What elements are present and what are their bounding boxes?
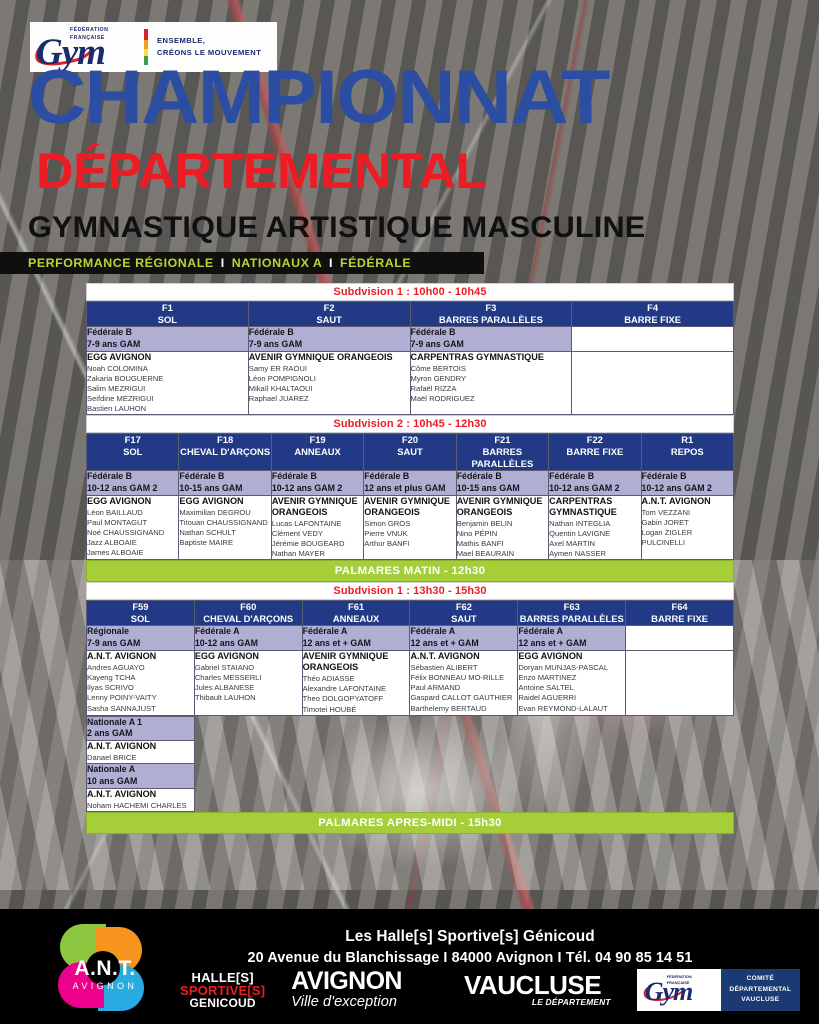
athlete-name: Lucas LAFONTAINE xyxy=(272,519,363,529)
halles-line3: GENICOUD xyxy=(180,997,265,1009)
venue-info: Les Halle[s] Sportive[s] Génicoud 20 Ave… xyxy=(190,926,750,969)
club-cell: A.N.T. AVIGNONTom VEZZANIGabin JORETLoga… xyxy=(641,495,733,560)
club-name: A.N.T. AVIGNON xyxy=(642,496,733,507)
category-cell: Fédérale B12 ans et plus GAM xyxy=(364,471,456,496)
category-level: Fédérale A xyxy=(518,626,563,636)
poster-root: FÉDÉRATION FRANÇAISE Gym ENSEMBLE, CRÉON… xyxy=(0,0,819,1024)
athlete-name: Raidel AGUERRI xyxy=(518,693,625,703)
apparatus-header-F18[interactable]: F18CHEVAL D'ARÇONS xyxy=(179,434,271,471)
category-age: 7-9 ans GAM xyxy=(87,339,248,351)
club-name: CARPENTRAS GYMNASTIQUE xyxy=(411,352,572,363)
category-level: Fédérale A xyxy=(303,626,348,636)
extra-category-cell: Nationale A10 ans GAM xyxy=(87,764,195,789)
athlete-name: Myron GENDRY xyxy=(411,374,572,384)
athlete-name: Benjamin BELIN xyxy=(457,519,548,529)
club-cell xyxy=(626,651,734,716)
apparatus-name: BARRE FIXE xyxy=(549,446,640,458)
category-age: 10-15 ans GAM xyxy=(179,483,270,495)
athlete-name: Charles MESSERLI xyxy=(195,673,302,683)
club-cell: EGG AVIGNONNoah COLOMINAZakaria BOUGUERN… xyxy=(87,351,249,415)
athlete-name: Timotei HOUBÉ xyxy=(303,705,410,715)
palmares-afternoon-bar: PALMARES APRES-MIDI - 15h30 xyxy=(86,812,734,834)
athlete-name: Barthelemy BERTAUD xyxy=(410,704,517,714)
extra-category-row: Nationale A 12 ans GAM xyxy=(87,716,734,741)
title-discipline: GYMNASTIQUE ARTISTIQUE MASCULINE xyxy=(28,213,645,243)
extra-category-table: Nationale A 12 ans GAMA.N.T. AVIGNONDana… xyxy=(86,716,734,813)
category-level: Fédérale B xyxy=(249,327,294,337)
club-name: AVENIR GYMNIQUE ORANGEOIS xyxy=(303,651,410,673)
apparatus-header-F2[interactable]: F2SAUT xyxy=(248,302,410,327)
category-separator-0: I xyxy=(218,256,228,270)
athlete-name: Axel MARTIN xyxy=(549,539,640,549)
title-championnat: CHAMPIONNAT xyxy=(28,63,609,133)
category-level: Fédérale B xyxy=(87,327,132,337)
apparatus-header-R1[interactable]: R1REPOS xyxy=(641,434,733,471)
apparatus-header-F21[interactable]: F21BARRES PARALLÈLES xyxy=(456,434,548,471)
athlete-name: Sébastien ALIBERT xyxy=(410,663,517,673)
club-cell: AVENIR GYMNIQUE ORANGEOISBenjamin BELINN… xyxy=(456,495,548,560)
palmares-afternoon-text: PALMARES APRES-MIDI - 15h30 xyxy=(318,817,501,829)
athlete-name: Andres AGUAYO xyxy=(87,663,194,673)
category-0: PERFORMANCE RÉGIONALE xyxy=(28,256,214,270)
subdivision-title-text: Subdvision 1 : 10h00 - 10h45 xyxy=(333,286,486,298)
sponsor-comite-departemental-vaucluse: FÉDÉRATION FRANÇAISE Gym COMITÉ DÉPARTEM… xyxy=(637,969,800,1011)
apparatus-name: BARRE FIXE xyxy=(626,613,733,625)
athlete-name: Mikaïl KHALTAOUI xyxy=(249,384,410,394)
club-name: AVENIR GYMNIQUE ORANGEOIS xyxy=(457,496,548,518)
athlete-name: Raphael JUAREZ xyxy=(249,394,410,404)
category-cell: Fédérale A12 ans et + GAM xyxy=(410,626,518,651)
category-level: Fédérale B xyxy=(642,471,687,481)
halles-line1: HALLE[S] xyxy=(180,971,265,984)
athlete-name: Mathis BANFI xyxy=(457,539,548,549)
club-cell: A.N.T. AVIGNONSébastien ALIBERTFélix BON… xyxy=(410,651,518,716)
category-row: Fédérale B7-9 ans GAMFédérale B7-9 ans G… xyxy=(87,327,734,352)
club-name: EGG AVIGNON xyxy=(87,496,178,507)
athlete-name: Aymen NASSER xyxy=(549,549,640,559)
athlete-name: Noé CHAUSSIGNAND xyxy=(87,528,178,538)
athlete-name: Léon POMPIGNOLI xyxy=(249,374,410,384)
venue-name: Les Halle[s] Sportive[s] Génicoud xyxy=(190,926,750,948)
category-age: 7-9 ans GAM xyxy=(87,638,194,650)
apparatus-name: SAUT xyxy=(410,613,517,625)
club-cell: CARPENTRAS GYMNASTIQUENathan INTEGLIAQue… xyxy=(549,495,641,560)
category-age: 10-12 ans GAM 2 xyxy=(549,483,640,495)
category-bar-text: PERFORMANCE RÉGIONALE I NATIONAUX A I FÉ… xyxy=(28,256,411,270)
halles-line2: SPORTIVE[S] xyxy=(180,984,265,997)
apparatus-code: F64 xyxy=(626,601,733,613)
category-cell: Régionale7-9 ans GAM xyxy=(87,626,195,651)
apparatus-code: F59 xyxy=(87,601,194,613)
athlete-name: Paul ARMAND xyxy=(410,683,517,693)
athlete-name: Quentin LAVIGNE xyxy=(549,529,640,539)
category-level: Fédérale B xyxy=(364,471,409,481)
club-cell: A.N.T. AVIGNONDanael BRICE xyxy=(87,741,195,764)
category-age: 12 ans et + GAM xyxy=(518,638,625,650)
schedule-container: Subdvision 1 : 10h00 - 10h45F1SOLF2SAUTF… xyxy=(86,283,734,834)
athlete-name: Félix BONNEAU MO-RILLE xyxy=(410,673,517,683)
athlete-name: Nathan INTEGLIA xyxy=(549,519,640,529)
club-row: EGG AVIGNONLéon BAILLAUDPaul MONTAGUTNoé… xyxy=(87,495,734,560)
apparatus-header-F61[interactable]: F61ANNEAUX xyxy=(302,601,410,626)
category-age: 7-9 ans GAM xyxy=(411,339,572,351)
athlete-name: Léon BAILLAUD xyxy=(87,508,178,518)
athlete-name: Simon GROS xyxy=(364,519,455,529)
apparatus-name: REPOS xyxy=(642,446,733,458)
athlete-name: Theo DOLGOPYATOFF xyxy=(303,694,410,704)
athlete-name: Zakaria BOUGUERNE xyxy=(87,374,248,384)
athlete-name: Jérémie BOUGEARD xyxy=(272,539,363,549)
athlete-name: Noham HACHEMI CHARLES xyxy=(87,801,194,811)
club-cell: A.N.T. AVIGNONAndres AGUAYOKayeng TCHAIl… xyxy=(87,651,195,716)
athlete-name: Kayeng TCHA xyxy=(87,673,194,683)
club-cell: EGG AVIGNONDoryan MUNJAS-PASCALEnzo MART… xyxy=(518,651,626,716)
club-cell: EGG AVIGNONMaximilian DEGROUTitouan CHAU… xyxy=(179,495,271,560)
apparatus-code: F22 xyxy=(549,434,640,446)
apparatus-header-F4[interactable]: F4BARRE FIXE xyxy=(572,302,734,327)
apparatus-name: SOL xyxy=(87,613,194,625)
apparatus-code: F60 xyxy=(195,601,302,613)
category-age: 10-12 ans GAM 2 xyxy=(272,483,363,495)
category-level: Fédérale B xyxy=(457,471,502,481)
apparatus-name: BARRES PARALLÈLES xyxy=(457,446,548,470)
category-1: NATIONAUX A xyxy=(232,256,322,270)
category-age: 10-12 ans GAM 2 xyxy=(642,483,733,495)
palmares-morning-bar: PALMARES MATIN - 12h30 xyxy=(86,560,734,582)
category-level: Fédérale B xyxy=(179,471,224,481)
apparatus-code: F62 xyxy=(410,601,517,613)
extra-category-row: Nationale A10 ans GAM xyxy=(87,764,734,789)
athlete-name: Maximilian DEGROU xyxy=(179,508,270,518)
apparatus-name: SAUT xyxy=(364,446,455,458)
sponsor-avignon: AVIGNON Ville d'exception xyxy=(291,970,438,1010)
club-name: AVENIR GYMNIQUE ORANGEOIS xyxy=(364,496,455,518)
athlete-name: Danael BRICE xyxy=(87,753,194,763)
athlete-name: Antoine SALTEL xyxy=(518,683,625,693)
apparatus-header-F60[interactable]: F60CHEVAL D'ARÇONS xyxy=(194,601,302,626)
apparatus-header-row: F17SOLF18CHEVAL D'ARÇONSF19ANNEAUXF20SAU… xyxy=(87,434,734,471)
category-separator-1: I xyxy=(326,256,336,270)
cdv-line1: COMITÉ xyxy=(747,974,774,985)
athlete-name: Gabriel STAIANO xyxy=(195,663,302,673)
apparatus-code: F2 xyxy=(249,302,410,314)
extra-category-level: Nationale A 1 xyxy=(87,717,142,727)
apparatus-code: F21 xyxy=(457,434,548,446)
category-level: Fédérale A xyxy=(195,626,240,636)
category-age: 10-15 ans GAM xyxy=(457,483,548,495)
category-cell: Fédérale B7-9 ans GAM xyxy=(410,327,572,352)
athlete-name: Jules ALBANESE xyxy=(195,683,302,693)
apparatus-name: SOL xyxy=(87,314,248,326)
avignon-wordmark: AVIGNON xyxy=(291,970,438,994)
extra-category-age: 2 ans GAM xyxy=(87,728,194,740)
apparatus-header-row: F59SOLF60CHEVAL D'ARÇONSF61ANNEAUXF62SAU… xyxy=(87,601,734,626)
subdivision-title: Subdvision 1 : 10h00 - 10h45 xyxy=(86,283,734,301)
extra-spacer xyxy=(194,788,733,811)
ant-avignon-logo: A.N.T. AVIGNON xyxy=(38,921,168,1013)
athlete-name: Samy ER RAOUI xyxy=(249,364,410,374)
category-bar: PERFORMANCE RÉGIONALE I NATIONAUX A I FÉ… xyxy=(0,252,484,274)
athlete-name: Gabin JORET xyxy=(642,518,733,528)
category-cell: Fédérale B7-9 ans GAM xyxy=(87,327,249,352)
athlete-name: Maël RODRIGUEZ xyxy=(411,394,572,404)
club-cell: AVENIR GYMNIQUE ORANGEOISThéo ADIASSEAle… xyxy=(302,651,410,716)
athlete-name: Nino PÉPIN xyxy=(457,529,548,539)
subdivision-title-text: Subdvision 1 : 13h30 - 15h30 xyxy=(333,585,486,597)
apparatus-code: F1 xyxy=(87,302,248,314)
apparatus-name: BARRES PARALLÈLES xyxy=(411,314,572,326)
club-cell: EGG AVIGNONGabriel STAIANOCharles MESSER… xyxy=(194,651,302,716)
athlete-name: Logan ZIGLER PULCINELLI xyxy=(642,528,733,548)
apparatus-header-row: F1SOLF2SAUTF3BARRES PARALLÈLESF4BARRE FI… xyxy=(87,302,734,327)
athlete-name: Enzo MARTINEZ xyxy=(518,673,625,683)
category-level: Fédérale B xyxy=(87,471,132,481)
apparatus-code: F19 xyxy=(272,434,363,446)
apparatus-name: BARRES PARALLÈLES xyxy=(518,613,625,625)
extra-category-age: 10 ans GAM xyxy=(87,776,194,788)
schedule-table: F59SOLF60CHEVAL D'ARÇONSF61ANNEAUXF62SAU… xyxy=(86,600,734,715)
athlete-name: Arthur BANFI xyxy=(364,539,455,549)
club-cell: A.N.T. AVIGNONNoham HACHEMI CHARLES xyxy=(87,788,195,811)
club-cell xyxy=(572,351,734,415)
sponsor-halles-sportives-genicoud: HALLE[S] SPORTIVE[S] GENICOUD xyxy=(180,971,265,1010)
palmares-morning-text: PALMARES MATIN - 12h30 xyxy=(335,565,485,577)
category-cell xyxy=(572,327,734,352)
apparatus-name: CHEVAL D'ARÇONS xyxy=(195,613,302,625)
cdv-text-block: COMITÉ DÉPARTEMENTAL VAUCLUSE xyxy=(721,969,800,1011)
apparatus-header-F59[interactable]: F59SOL xyxy=(87,601,195,626)
sponsor-vaucluse: VAUCLUSE LE DÉPARTEMENT xyxy=(464,973,611,1008)
apparatus-header-F20[interactable]: F20SAUT xyxy=(364,434,456,471)
category-level: Fédérale B xyxy=(549,471,594,481)
apparatus-header-F3[interactable]: F3BARRES PARALLÈLES xyxy=(410,302,572,327)
apparatus-header-F1[interactable]: F1SOL xyxy=(87,302,249,327)
extra-spacer xyxy=(194,764,733,789)
apparatus-code: R1 xyxy=(642,434,733,446)
athlete-name: Baptiste MAIRE xyxy=(179,538,270,548)
apparatus-header-F19[interactable]: F19ANNEAUX xyxy=(271,434,363,471)
club-row: EGG AVIGNONNoah COLOMINAZakaria BOUGUERN… xyxy=(87,351,734,415)
club-cell: AVENIR GYMNIQUE ORANGEOISSamy ER RAOUILé… xyxy=(248,351,410,415)
category-cell xyxy=(626,626,734,651)
athlete-name: Alexandre LAFONTAINE xyxy=(303,684,410,694)
apparatus-header-F64[interactable]: F64BARRE FIXE xyxy=(626,601,734,626)
schedule-table: F1SOLF2SAUTF3BARRES PARALLÈLESF4BARRE FI… xyxy=(86,301,734,415)
club-cell: CARPENTRAS GYMNASTIQUECôme BERTOISMyron … xyxy=(410,351,572,415)
club-name: EGG AVIGNON xyxy=(179,496,270,507)
athlete-name: Paul MONTAGUT xyxy=(87,518,178,528)
ant-logo-subtext: AVIGNON xyxy=(42,981,168,991)
club-name: EGG AVIGNON xyxy=(87,352,248,363)
club-name: EGG AVIGNON xyxy=(518,651,625,662)
club-cell: AVENIR GYMNIQUE ORANGEOISSimon GROSPierr… xyxy=(364,495,456,560)
cdv-ffg-mark: FÉDÉRATION FRANÇAISE Gym xyxy=(637,969,721,1011)
category-row: Régionale7-9 ans GAMFédérale A10-12 ans … xyxy=(87,626,734,651)
apparatus-code: F20 xyxy=(364,434,455,446)
apparatus-code: F61 xyxy=(303,601,410,613)
apparatus-name: SAUT xyxy=(249,314,410,326)
extra-club-row: A.N.T. AVIGNONNoham HACHEMI CHARLES xyxy=(87,788,734,811)
athlete-name: James ALBOAIE xyxy=(87,548,178,558)
cdv-line3: VAUCLUSE xyxy=(741,995,779,1006)
category-cell: Fédérale B10-12 ans GAM 2 xyxy=(641,471,733,496)
athlete-name: Tom VEZZANI xyxy=(642,508,733,518)
athlete-name: Nathan SCHULT xyxy=(179,528,270,538)
ant-logo-text: A.N.T. xyxy=(42,957,168,981)
category-age: 10-12 ans GAM 2 xyxy=(87,483,178,495)
category-cell: Fédérale A12 ans et + GAM xyxy=(302,626,410,651)
athlete-name: Ilyas SCRIVO xyxy=(87,683,194,693)
club-name: CARPENTRAS GYMNASTIQUE xyxy=(549,496,640,518)
subdivision-title-text: Subdvision 2 : 10h45 - 12h30 xyxy=(333,418,486,430)
footer: A.N.T. AVIGNON Les Halle[s] Sportive[s] … xyxy=(0,909,819,1024)
apparatus-code: F63 xyxy=(518,601,625,613)
category-2: FÉDÉRALE xyxy=(340,256,411,270)
athlete-name: Nathan MAYER xyxy=(272,549,363,559)
athlete-name: Noah COLOMINA xyxy=(87,364,248,374)
schedule-table: F17SOLF18CHEVAL D'ARÇONSF19ANNEAUXF20SAU… xyxy=(86,433,734,560)
athlete-name: Pierre VNUK xyxy=(364,529,455,539)
vaucluse-wordmark: VAUCLUSE xyxy=(464,973,611,998)
category-age: 10-12 ans GAM xyxy=(195,638,302,650)
category-level: Fédérale B xyxy=(411,327,456,337)
category-level: Fédérale B xyxy=(272,471,317,481)
apparatus-code: F4 xyxy=(572,302,733,314)
club-name: A.N.T. AVIGNON xyxy=(87,651,194,662)
athlete-name: Rafaël RIZZA xyxy=(411,384,572,394)
category-age: 7-9 ans GAM xyxy=(249,339,410,351)
category-cell: Fédérale B10-12 ans GAM 2 xyxy=(87,471,179,496)
athlete-name: Evan REYMOND-LALAUT xyxy=(518,704,625,714)
extra-category-cell: Nationale A 12 ans GAM xyxy=(87,716,195,741)
cdv-gym-wordmark: Gym xyxy=(645,977,693,1007)
apparatus-header-F17[interactable]: F17SOL xyxy=(87,434,179,471)
category-age: 12 ans et plus GAM xyxy=(364,483,455,495)
category-cell: Fédérale B10-15 ans GAM xyxy=(456,471,548,496)
athlete-name: Doryan MUNJAS-PASCAL xyxy=(518,663,625,673)
club-name: A.N.T. AVIGNON xyxy=(410,651,517,662)
category-row: Fédérale B10-12 ans GAM 2Fédérale B10-15… xyxy=(87,471,734,496)
apparatus-name: ANNEAUX xyxy=(303,613,410,625)
club-name: EGG AVIGNON xyxy=(195,651,302,662)
club-name: A.N.T. AVIGNON xyxy=(87,741,194,752)
athlete-name: Lenny POINY-VAITY xyxy=(87,693,194,703)
category-cell: Fédérale B7-9 ans GAM xyxy=(248,327,410,352)
category-level: Fédérale A xyxy=(410,626,455,636)
athlete-name: Jazz ALBOAIE xyxy=(87,538,178,548)
athlete-name: Théo ADIASSE xyxy=(303,674,410,684)
extra-spacer xyxy=(194,741,733,764)
category-cell: Fédérale A12 ans et + GAM xyxy=(518,626,626,651)
subdivision-title: Subdvision 2 : 10h45 - 12h30 xyxy=(86,415,734,433)
category-level: Régionale xyxy=(87,626,129,636)
apparatus-header-F62[interactable]: F62SAUT xyxy=(410,601,518,626)
athlete-name: Côme BERTOIS xyxy=(411,364,572,374)
apparatus-code: F17 xyxy=(87,434,178,446)
athlete-name: Gaspard CALLOT GAUTHIER xyxy=(410,693,517,703)
extra-spacer xyxy=(194,716,733,741)
sponsor-logos: HALLE[S] SPORTIVE[S] GENICOUD AVIGNON Vi… xyxy=(180,967,800,1013)
club-name: A.N.T. AVIGNON xyxy=(87,789,194,800)
extra-category-level: Nationale A xyxy=(87,764,135,774)
athlete-name: Mael BEAURAIN xyxy=(457,549,548,559)
apparatus-name: ANNEAUX xyxy=(272,446,363,458)
club-cell: AVENIR GYMNIQUE ORANGEOISLucas LAFONTAIN… xyxy=(271,495,363,560)
cdv-line2: DÉPARTEMENTAL xyxy=(729,985,791,996)
club-cell: EGG AVIGNONLéon BAILLAUDPaul MONTAGUTNoé… xyxy=(87,495,179,560)
athlete-name: Salim MEZRIGUI xyxy=(87,384,248,394)
athlete-name: Bastien LAUHON xyxy=(87,404,248,414)
club-name: AVENIR GYMNIQUE ORANGEOIS xyxy=(272,496,363,518)
category-cell: Fédérale B10-12 ans GAM 2 xyxy=(271,471,363,496)
category-cell: Fédérale B10-15 ans GAM xyxy=(179,471,271,496)
apparatus-code: F3 xyxy=(411,302,572,314)
category-cell: Fédérale A10-12 ans GAM xyxy=(194,626,302,651)
subdivision-title: Subdvision 1 : 13h30 - 15h30 xyxy=(86,582,734,600)
category-cell: Fédérale B10-12 ans GAM 2 xyxy=(549,471,641,496)
apparatus-name: BARRE FIXE xyxy=(572,314,733,326)
athlete-name: Thibault LAUHON xyxy=(195,693,302,703)
extra-club-row: A.N.T. AVIGNONDanael BRICE xyxy=(87,741,734,764)
athlete-name: Seifdine MEZRIGUI xyxy=(87,394,248,404)
athlete-name: Clément VEDY xyxy=(272,529,363,539)
apparatus-name: CHEVAL D'ARÇONS xyxy=(179,446,270,458)
avignon-tagline: Ville d'exception xyxy=(291,994,438,1010)
athlete-name: Sasha SANNAJUST xyxy=(87,704,194,714)
club-row: A.N.T. AVIGNONAndres AGUAYOKayeng TCHAIl… xyxy=(87,651,734,716)
athlete-name: Titouan CHAUSSIGNAND xyxy=(179,518,270,528)
club-name: AVENIR GYMNIQUE ORANGEOIS xyxy=(249,352,410,363)
apparatus-code: F18 xyxy=(179,434,270,446)
apparatus-name: SOL xyxy=(87,446,178,458)
apparatus-header-F63[interactable]: F63BARRES PARALLÈLES xyxy=(518,601,626,626)
category-age: 12 ans et + GAM xyxy=(410,638,517,650)
apparatus-header-F22[interactable]: F22BARRE FIXE xyxy=(549,434,641,471)
category-age: 12 ans et + GAM xyxy=(303,638,410,650)
title-departemental: DÉPARTEMENTAL xyxy=(36,148,487,196)
